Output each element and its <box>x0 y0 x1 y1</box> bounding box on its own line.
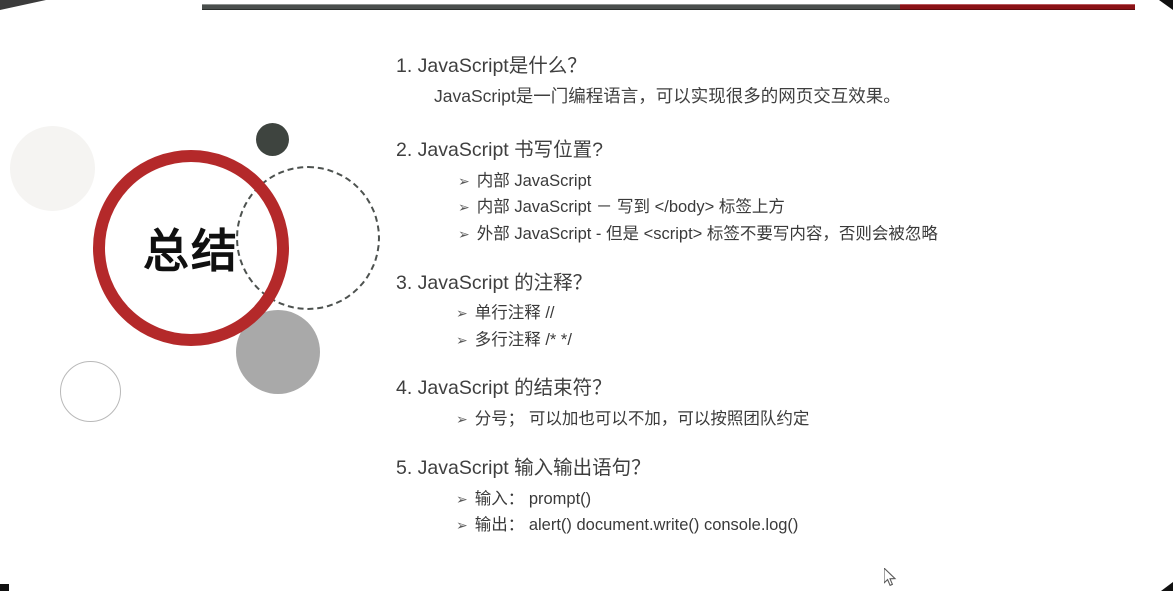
qa-bullet-list-2: ➢ 内部 JavaScript ➢ 内部 JavaScript － 写到 </b… <box>458 168 1116 248</box>
list-item: ➢ 输出： alert() document.write() console.l… <box>456 512 1116 539</box>
bullet-arrow-icon: ➢ <box>456 514 468 537</box>
qa-block-5: 5. JavaScript 输入输出语句？ ➢ 输入： prompt() ➢ 输… <box>396 454 1116 539</box>
corner-marker-top-right <box>1159 0 1173 10</box>
list-item-label: 外部 JavaScript - 但是 <script> 标签不要写内容，否则会被… <box>477 221 938 248</box>
list-item: ➢ 单行注释 // <box>456 300 1116 327</box>
top-chrome-bar <box>0 0 1173 14</box>
qa-bullet-list-5: ➢ 输入： prompt() ➢ 输出： alert() document.wr… <box>456 486 1116 539</box>
list-item-label: 内部 JavaScript － 写到 </body> 标签上方 <box>477 194 785 221</box>
bullet-arrow-icon: ➢ <box>458 196 470 219</box>
list-item: ➢ 内部 JavaScript <box>458 168 1116 195</box>
list-item: ➢ 多行注释 /* */ <box>456 327 1116 354</box>
qa-block-2: 2. JavaScript 书写位置? ➢ 内部 JavaScript ➢ 内部… <box>396 136 1116 247</box>
thin-outline-circle <box>60 361 121 422</box>
qa-answer-1: JavaScript是一门编程语言，可以实现很多的网页交互效果。 <box>434 83 1116 110</box>
qa-block-4: 4. JavaScript 的结束符？ ➢ 分号； 可以加也可以不加，可以按照团… <box>396 374 1116 432</box>
list-item-label: 单行注释 // <box>475 300 555 327</box>
topbar-dark-segment <box>202 4 900 10</box>
slide-canvas: 总结 1. JavaScript是什么？ JavaScript是一门编程语言，可… <box>0 14 1173 591</box>
qa-title-1: 1. JavaScript是什么？ <box>396 52 1116 81</box>
list-item: ➢ 内部 JavaScript － 写到 </body> 标签上方 <box>458 194 1116 221</box>
list-item-label: 多行注释 /* */ <box>475 327 572 354</box>
decorative-circle-cluster: 总结 <box>0 14 400 454</box>
corner-marker-top-left <box>0 0 46 10</box>
bullet-arrow-icon: ➢ <box>458 223 470 246</box>
qa-block-3: 3. JavaScript 的注释？ ➢ 单行注释 // ➢ 多行注释 /* *… <box>396 269 1116 354</box>
mouse-cursor <box>884 568 898 588</box>
corner-marker-bottom-left <box>0 584 9 591</box>
bullet-arrow-icon: ➢ <box>456 302 468 325</box>
bullet-arrow-icon: ➢ <box>458 170 470 193</box>
light-gray-circle <box>10 126 95 211</box>
qa-block-1: 1. JavaScript是什么？ JavaScript是一门编程语言，可以实现… <box>396 52 1116 110</box>
list-item: ➢ 外部 JavaScript - 但是 <script> 标签不要写内容，否则… <box>458 221 1116 248</box>
qa-title-4: 4. JavaScript 的结束符？ <box>396 374 1116 403</box>
qa-bullet-list-3: ➢ 单行注释 // ➢ 多行注释 /* */ <box>456 300 1116 353</box>
bullet-arrow-icon: ➢ <box>456 329 468 352</box>
summary-badge-label: 总结 <box>93 150 289 346</box>
list-item-label: 输入： prompt() <box>475 486 591 513</box>
qa-bullet-list-4: ➢ 分号； 可以加也可以不加，可以按照团队约定 <box>456 406 1116 433</box>
qa-title-5: 5. JavaScript 输入输出语句？ <box>396 454 1116 483</box>
bullet-arrow-icon: ➢ <box>456 408 468 431</box>
corner-marker-bottom-right <box>1161 582 1173 591</box>
list-item-label: 内部 JavaScript <box>477 168 592 195</box>
qa-title-2: 2. JavaScript 书写位置? <box>396 136 1116 165</box>
list-item-label: 输出： alert() document.write() console.log… <box>475 512 799 539</box>
topbar-red-segment <box>900 4 1135 10</box>
list-item-label: 分号； 可以加也可以不加，可以按照团队约定 <box>475 406 810 433</box>
qa-content-column: 1. JavaScript是什么？ JavaScript是一门编程语言，可以实现… <box>396 52 1116 543</box>
bullet-arrow-icon: ➢ <box>456 488 468 511</box>
list-item: ➢ 分号； 可以加也可以不加，可以按照团队约定 <box>456 406 1116 433</box>
qa-title-3: 3. JavaScript 的注释？ <box>396 269 1116 298</box>
list-item: ➢ 输入： prompt() <box>456 486 1116 513</box>
